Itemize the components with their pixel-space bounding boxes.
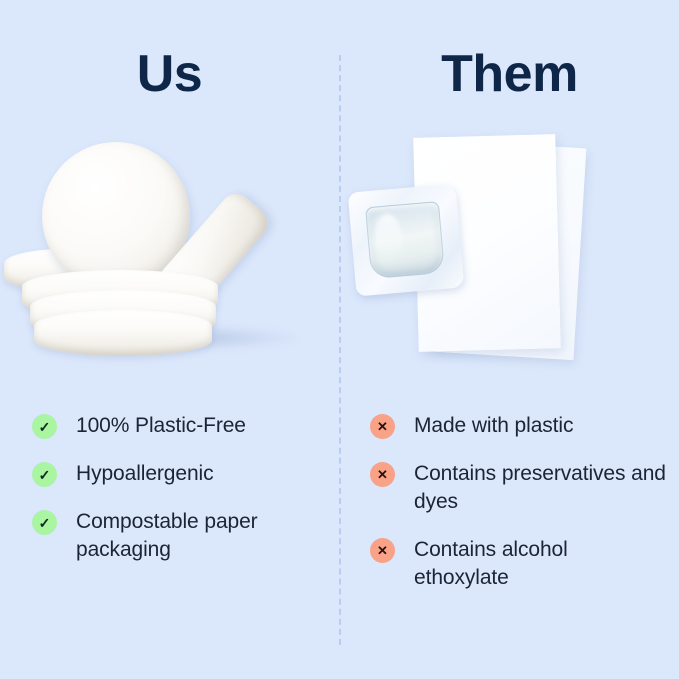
list-item-label: Made with plastic xyxy=(414,412,573,440)
tablet-disc-stack-3 xyxy=(34,310,212,356)
column-heading-them: Them xyxy=(340,46,679,102)
check-icon xyxy=(32,510,57,535)
x-icon xyxy=(370,538,395,563)
list-item: Compostable paper packaging xyxy=(32,508,339,564)
column-heading-us: Us xyxy=(0,46,339,102)
x-icon xyxy=(370,462,395,487)
check-icon xyxy=(32,414,57,439)
list-item: Contains preservatives and dyes xyxy=(370,460,679,516)
plastic-pod xyxy=(348,183,465,296)
list-item: 100% Plastic-Free xyxy=(32,412,339,440)
list-item-label: Hypoallergenic xyxy=(76,460,214,488)
list-item-label: 100% Plastic-Free xyxy=(76,412,246,440)
list-item-label: Contains alcohol ethoxylate xyxy=(414,536,666,592)
column-them: Them Made with plastic Contains preserva… xyxy=(340,0,679,679)
list-item-label: Compostable paper packaging xyxy=(76,508,328,564)
check-icon xyxy=(32,462,57,487)
bullet-list-them: Made with plastic Contains preservatives… xyxy=(340,412,679,592)
comparison-infographic: Us 100% Plastic-Free Hypoallergenic Comp… xyxy=(0,0,679,679)
cleaning-tablet-stack-icon xyxy=(0,130,339,395)
column-us: Us 100% Plastic-Free Hypoallergenic Comp… xyxy=(0,0,339,679)
list-item: Contains alcohol ethoxylate xyxy=(370,536,679,592)
list-item: Hypoallergenic xyxy=(32,460,339,488)
list-item-label: Contains preservatives and dyes xyxy=(414,460,666,516)
bullet-list-us: 100% Plastic-Free Hypoallergenic Compost… xyxy=(0,412,339,564)
x-icon xyxy=(370,414,395,439)
list-item: Made with plastic xyxy=(370,412,679,440)
plastic-pod-and-wipes-icon xyxy=(340,130,679,395)
